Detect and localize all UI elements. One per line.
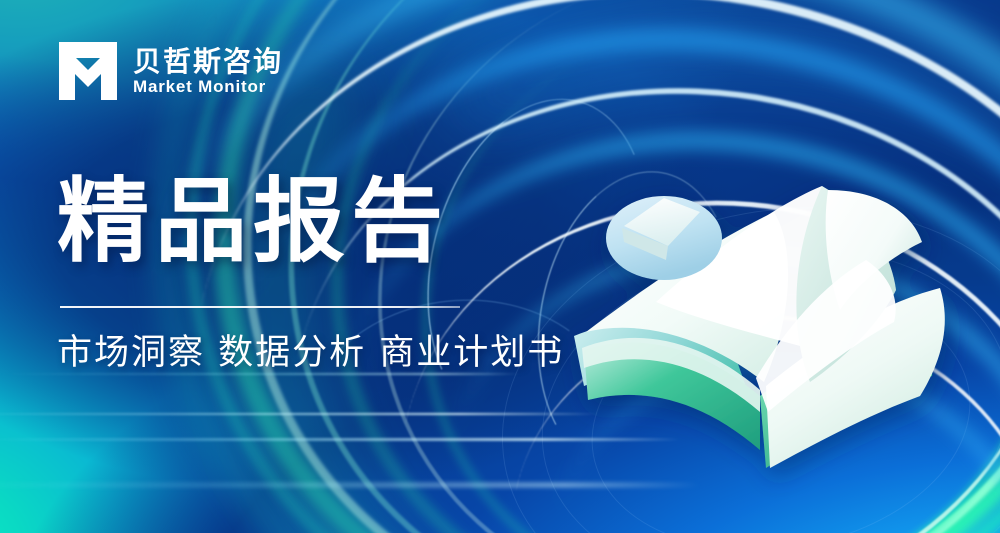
horizontal-light-streak (0, 413, 600, 415)
brand-name-en: Market Monitor (133, 78, 283, 95)
brand-name-cn: 贝哲斯咨询 (133, 48, 283, 76)
market-monitor-m-logo-icon (57, 40, 119, 102)
horizontal-light-streak (0, 483, 700, 487)
subtitle: 市场洞察 数据分析 商业计划书 (57, 332, 564, 376)
title-divider (60, 306, 460, 308)
page-title: 精品报告 (57, 176, 449, 268)
open-book-illustration (560, 150, 980, 480)
report-banner: 贝哲斯咨询 Market Monitor 精品报告 市场洞察 数据分析 商业计划… (0, 0, 1000, 533)
brand-logo[interactable]: 贝哲斯咨询 Market Monitor (57, 40, 283, 102)
